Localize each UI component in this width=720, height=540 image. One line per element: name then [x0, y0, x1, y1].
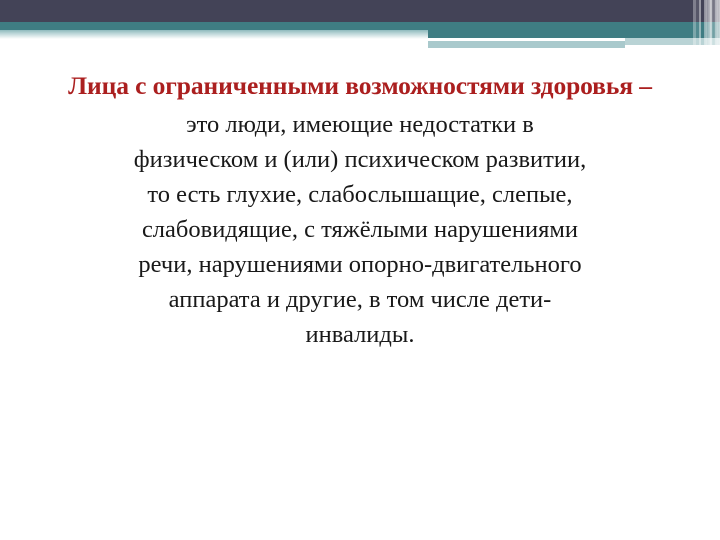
banner-light-band-right: [428, 41, 625, 48]
slide-body-line: слабовидящие, с тяжёлыми нарушениями: [68, 212, 652, 247]
banner-dark-band: [0, 0, 720, 22]
slide-body-line: аппарата и другие, в том числе дети-: [68, 282, 652, 317]
slide-title-line: Лица с ограниченными возможностями: [68, 71, 525, 100]
slide-body-line: это люди, имеющие недостатки в: [68, 107, 652, 142]
slide-body-line: инвалиды.: [68, 317, 652, 352]
banner-vertical-stripes-edge: [704, 0, 720, 48]
slide-body-line: речи, нарушениями опорно-двигательного: [68, 247, 652, 282]
slide-title-line: здоровья –: [531, 71, 652, 100]
slide-content: Лица с ограниченными возможностями здоро…: [54, 70, 666, 352]
presentation-slide: Лица с ограниченными возможностями здоро…: [0, 0, 720, 540]
slide-body: это люди, имеющие недостатки в физическо…: [54, 107, 666, 352]
slide-header-banner: [0, 0, 720, 52]
banner-teal-band-right: [428, 22, 720, 38]
slide-body-line: то есть глухие, слабослышащие, слепые,: [68, 177, 652, 212]
slide-body-line: физическом и (или) психическом развитии,: [68, 142, 652, 177]
slide-title: Лица с ограниченными возможностями здоро…: [54, 70, 666, 101]
